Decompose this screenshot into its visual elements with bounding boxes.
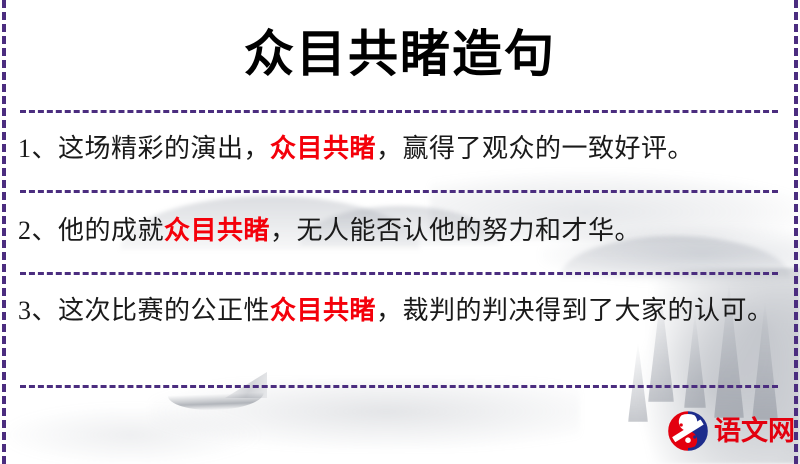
- sentence-3-after: ，裁判的判决得到了大家的认可。: [376, 296, 774, 325]
- example-sentence-3: 3、这次比赛的公正性众目共睹，裁判的判决得到了大家的认可。: [18, 288, 778, 333]
- sentence-2-index: 2、: [18, 216, 58, 245]
- ink-wash-cloud: [0, 405, 260, 464]
- example-sentence-2: 2、他的成就众目共睹，无人能否认他的努力和才华。: [18, 208, 778, 253]
- sentence-1-idiom: 众目共睹: [270, 134, 376, 163]
- sentence-1-before: 这场精彩的演出，: [58, 134, 270, 163]
- separator-rule-1: [20, 110, 778, 113]
- site-name-text: 语文网: [714, 416, 795, 446]
- slide-canvas: 众目共睹造句 1、这场精彩的演出，众目共睹，赢得了观众的一致好评。 2、他的成就…: [0, 0, 800, 464]
- frame-border-left: [2, 0, 6, 464]
- yin-yang-fish-icon: [668, 411, 708, 451]
- sentence-1-index: 1、: [18, 134, 58, 163]
- page-title: 众目共睹造句: [0, 20, 800, 88]
- separator-rule-4: [20, 385, 778, 388]
- separator-rule-3: [20, 272, 778, 275]
- sentence-3-idiom: 众目共睹: [270, 296, 376, 325]
- sentence-2-before: 他的成就: [58, 216, 164, 245]
- sentence-3-before: 这次比赛的公正性: [58, 296, 270, 325]
- boat-hull-shape: [168, 392, 264, 411]
- sentence-3-index: 3、: [18, 296, 58, 325]
- ink-wash-cloud: [150, 380, 580, 450]
- tree-shape: [628, 342, 648, 422]
- sentence-1-after: ，赢得了观众的一致好评。: [376, 134, 694, 163]
- site-watermark-logo: 语文网: [668, 411, 795, 451]
- sentence-2-idiom: 众目共睹: [164, 216, 270, 245]
- sentence-2-after: ，无人能否认他的努力和才华。: [270, 216, 641, 245]
- frame-border-right: [794, 0, 798, 464]
- example-sentence-1: 1、这场精彩的演出，众目共睹，赢得了观众的一致好评。: [18, 126, 778, 171]
- separator-rule-2: [20, 190, 778, 193]
